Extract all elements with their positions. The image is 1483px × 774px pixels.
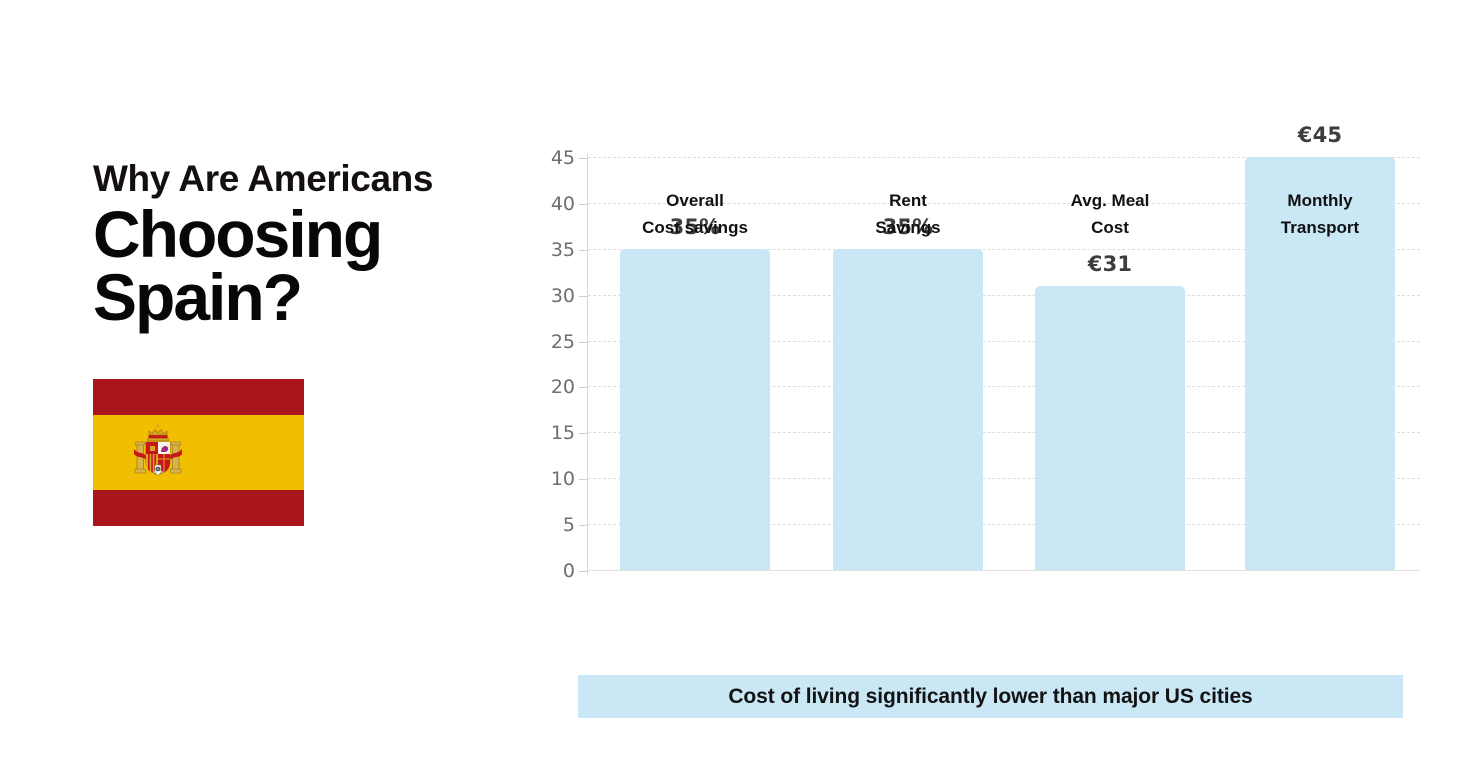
y-tick-mark [579,387,588,388]
y-tick-mark [579,433,588,434]
summary-banner: Cost of living significantly lower than … [578,675,1403,718]
x-category-label-line: Savings [808,214,1008,241]
infographic-canvas: Why Are Americans Choosing Spain? [0,0,1483,774]
bar-group[interactable]: 35%RentSavings [833,157,983,570]
plot-area: 051015202530354045 35%OverallCost saving… [588,157,1420,570]
y-tick-mark [579,525,588,526]
spain-coat-of-arms-icon [127,421,189,483]
summary-banner-text: Cost of living significantly lower than … [728,685,1252,709]
headline-line-1: Why Are Americans [93,160,523,197]
bar[interactable] [1035,286,1185,571]
headline-line-2: Choosing [93,203,523,266]
y-tick-label: 45 [551,147,575,169]
x-category-label: OverallCost savings [595,187,795,241]
x-category-label-line: Cost savings [595,214,795,241]
y-tick-mark [579,296,588,297]
bar[interactable] [833,249,983,570]
y-tick-label: 5 [563,514,575,536]
y-tick-label: 10 [551,468,575,490]
x-category-label-line: Transport [1220,214,1420,241]
y-tick-mark [579,479,588,480]
y-tick-label: 30 [551,285,575,307]
flag-band-red-top [93,379,304,415]
bar[interactable] [620,249,770,570]
bar-group[interactable]: 35%OverallCost savings [620,157,770,570]
y-tick-mark [579,250,588,251]
x-category-label-line: Avg. Meal [1010,187,1210,214]
bar-value-label: €31 [1035,252,1185,276]
x-category-label-line: Rent [808,187,1008,214]
y-tick-label: 35 [551,239,575,261]
x-category-label: RentSavings [808,187,1008,241]
y-tick-label: 0 [563,560,575,582]
bars-group: 35%OverallCost savings35%RentSavings€31A… [588,157,1420,570]
bar-group[interactable]: €45MonthlyTransport [1245,157,1395,570]
x-category-label: MonthlyTransport [1220,187,1420,241]
y-tick-label: 20 [551,376,575,398]
headline-block: Why Are Americans Choosing Spain? [93,160,523,330]
spain-flag-icon [93,379,304,526]
y-tick-mark [579,204,588,205]
y-tick-mark [579,158,588,159]
gridline: 0 [588,570,1420,571]
flag-band-yellow [93,415,304,490]
x-category-label-line: Cost [1010,214,1210,241]
flag-band-red-bottom [93,490,304,526]
y-tick-mark [579,571,588,572]
headline-emphasis: Choosing Spain? [93,203,523,330]
x-category-label-line: Overall [595,187,795,214]
headline-line-3: Spain? [93,266,523,329]
y-tick-label: 15 [551,422,575,444]
y-tick-label: 40 [551,193,575,215]
bar-chart: 051015202530354045 35%OverallCost saving… [540,110,1440,670]
x-category-label: Avg. MealCost [1010,187,1210,241]
x-category-label-line: Monthly [1220,187,1420,214]
bar-value-label: €45 [1245,123,1395,147]
y-tick-label: 25 [551,331,575,353]
y-tick-mark [579,342,588,343]
bar-group[interactable]: €31Avg. MealCost [1035,157,1185,570]
